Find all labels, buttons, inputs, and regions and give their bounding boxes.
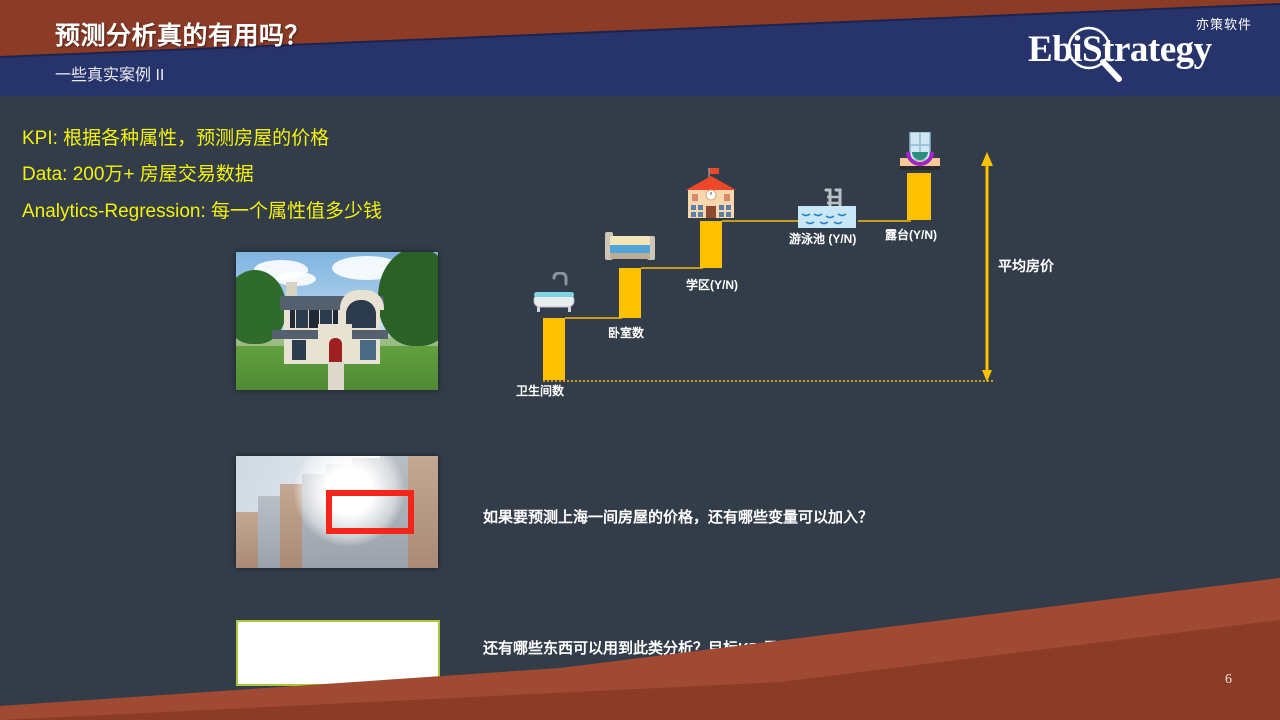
window-shape [296,310,308,328]
balcony-icon [892,132,948,174]
brand-logo-prefix: E [1028,29,1052,70]
brand-logo[interactable]: 亦策软件 EbiStrategy [1028,14,1258,84]
red-annotation-box [326,490,414,534]
page-title: 预测分析真的有用吗？ [55,16,310,52]
suburban-house-photo [236,252,438,390]
bar-bedrooms [619,268,641,318]
swimming-pool-icon [796,186,858,230]
empty-answer-box[interactable] [236,620,440,686]
connector-2 [641,267,703,269]
bathtub-icon [524,272,584,316]
window-shape [292,340,306,360]
front-door [329,338,342,362]
average-price-axis-arrow [981,152,993,382]
bar-label-pool: 游泳池 (Y/N) [789,230,856,247]
bar-label-balcony: 露台(Y/N) [885,226,937,243]
bullet-analytics: Analytics-Regression: 每一个属性值多少钱 [22,196,382,223]
slide-root: 预测分析真的有用吗？ 一些真实案例 II 亦策软件 EbiStrategy KP… [0,0,1280,720]
connector-4 [858,220,911,222]
brand-logo-wordmark: EbiStrategy [1028,28,1258,78]
bullet-data: Data: 200万+ 房屋交易数据 [22,159,254,186]
connector-1 [565,317,622,319]
school-icon [678,168,744,222]
bar-label-bathrooms: 卫生间数 [516,382,564,399]
question-shanghai-variables: 如果要预测上海一间房屋的价格，还有哪些变量可以加入？ [483,506,873,527]
bar-label-school: 学区(Y/N) [686,276,738,293]
bar-school-district [700,221,722,268]
bullet-kpi: KPI: 根据各种属性，预测房屋的价格 [22,123,329,150]
apartment-building-photo [236,456,438,568]
brand-logo-suffix: Strategy [1082,29,1212,70]
page-number: 6 [1225,672,1232,688]
bed-icon [600,222,660,268]
bar-balcony [907,173,931,220]
page-subtitle: 一些真实案例 II [55,61,164,85]
brand-logo-mid: bi [1052,29,1082,70]
bar-label-bedrooms: 卧室数 [608,324,644,341]
shutter-shape [290,310,295,328]
waterfall-chart: 卫生间数 卧室数 [500,130,1060,420]
walkway-shape [328,362,344,390]
chart-baseline [543,380,993,382]
chart-axis-label: 平均房价 [998,256,1054,276]
window-shape [360,340,376,360]
bar-bathrooms [543,318,565,380]
